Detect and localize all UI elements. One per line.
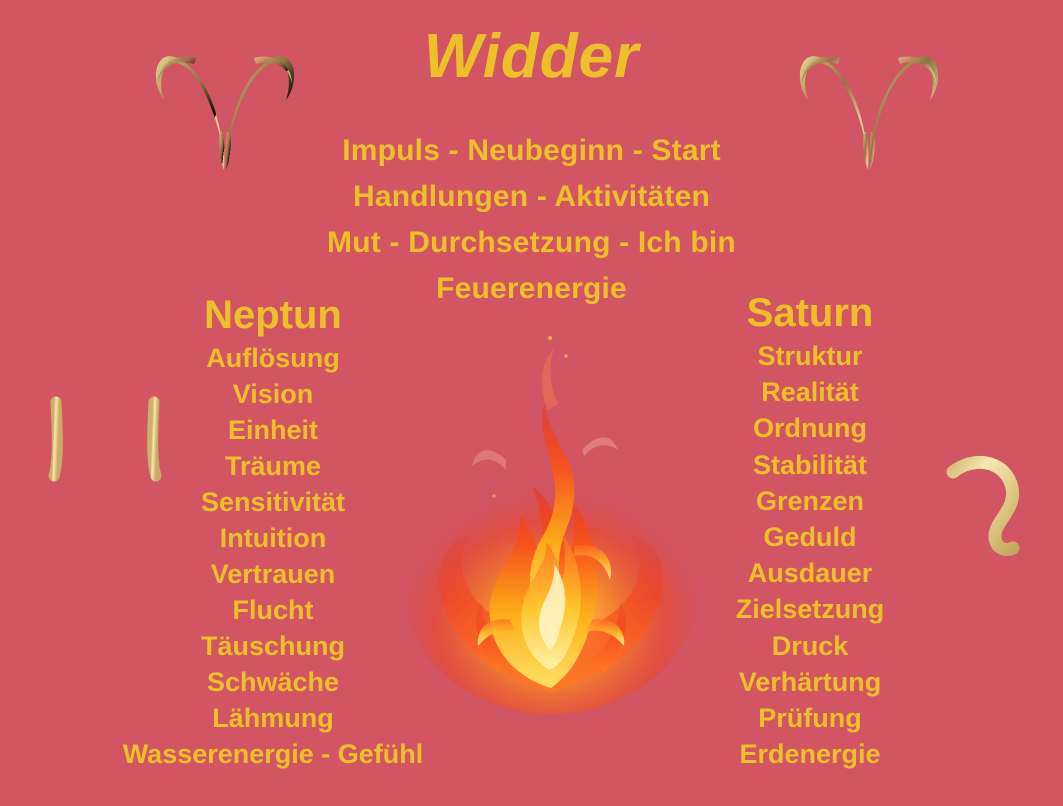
- keyword-item: Intuition: [108, 520, 438, 556]
- keyword-item: Wasserenergie - Gefühl: [108, 736, 438, 772]
- keyword-item: Druck: [690, 628, 930, 664]
- keyword-item: Träume: [108, 448, 438, 484]
- keyword-item: Stabilität: [690, 447, 930, 483]
- keyword-item: Täuschung: [108, 628, 438, 664]
- neptune-keyword-column: Neptun Auflösung Vision Einheit Träume S…: [108, 292, 438, 772]
- keyword-item: Zielsetzung: [690, 591, 930, 627]
- keyword-item: Ausdauer: [690, 555, 930, 591]
- keyword-item: Realität: [690, 374, 930, 410]
- saturn-keyword-column: Saturn Struktur Realität Ordnung Stabili…: [690, 290, 930, 772]
- keyword-item: Flucht: [108, 592, 438, 628]
- subtitle-line: Impuls - Neubeginn - Start: [0, 128, 1063, 174]
- keyword-item: Vertrauen: [108, 556, 438, 592]
- subtitle-block: Impuls - Neubeginn - Start Handlungen - …: [0, 128, 1063, 312]
- fire-flame-image: [398, 320, 704, 720]
- keyword-item: Sensitivität: [108, 484, 438, 520]
- subtitle-line: Handlungen - Aktivitäten: [0, 174, 1063, 220]
- keyword-item: Geduld: [690, 519, 930, 555]
- keyword-item: Prüfung: [690, 700, 930, 736]
- keyword-item: Ordnung: [690, 410, 930, 446]
- keyword-item: Auflösung: [108, 340, 438, 376]
- planet-name-neptune: Neptun: [108, 292, 438, 338]
- keyword-item: Lähmung: [108, 700, 438, 736]
- keyword-item: Einheit: [108, 412, 438, 448]
- keyword-item: Verhärtung: [690, 664, 930, 700]
- keyword-item: Vision: [108, 376, 438, 412]
- keyword-item: Erdenergie: [690, 736, 930, 772]
- keyword-item: Schwäche: [108, 664, 438, 700]
- planet-name-saturn: Saturn: [690, 290, 930, 336]
- keyword-item: Grenzen: [690, 483, 930, 519]
- subtitle-line: Mut - Durchsetzung - Ich bin: [0, 220, 1063, 266]
- page-title: Widder: [0, 24, 1063, 89]
- saturn-planet-icon: [915, 412, 1037, 560]
- zodiac-poster: Widder Impuls - Neubeginn - Start Handlu…: [0, 0, 1063, 806]
- keyword-item: Struktur: [690, 338, 930, 374]
